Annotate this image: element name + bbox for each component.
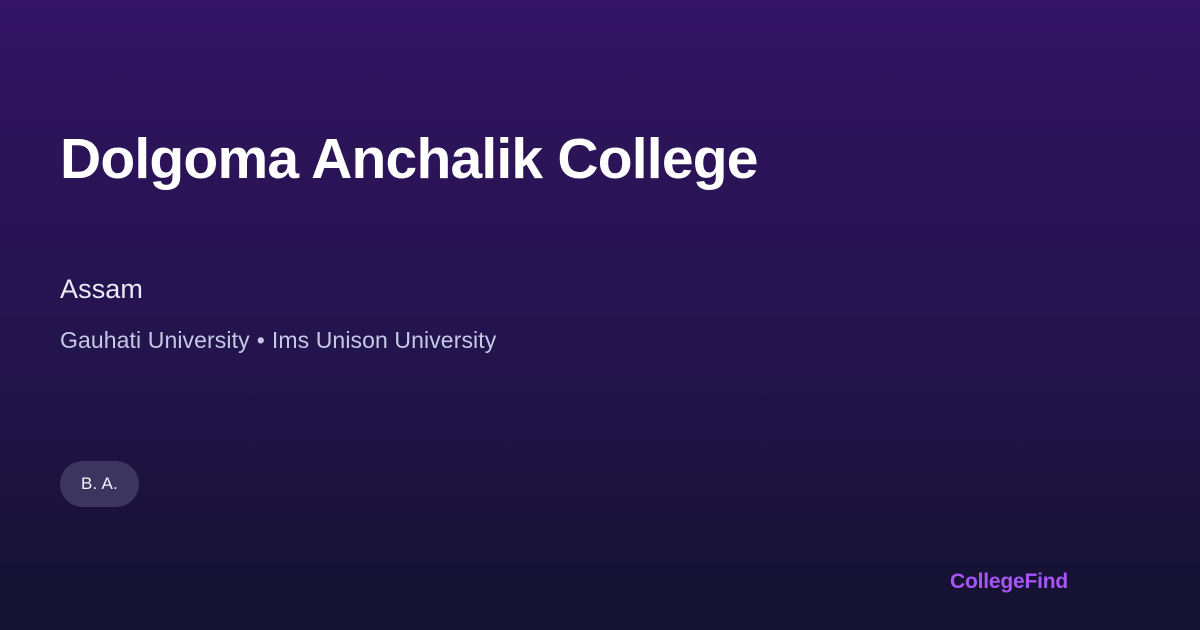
page-title: Dolgoma Anchalik College bbox=[60, 127, 758, 193]
og-share-card: Dolgoma Anchalik College Assam Gauhati U… bbox=[0, 0, 1200, 630]
bullet-separator-icon: • bbox=[250, 326, 272, 356]
affiliation-line: Gauhati University•Ims Unison University bbox=[60, 326, 496, 356]
state-label: Assam bbox=[60, 272, 143, 307]
affiliation-secondary: Ims Unison University bbox=[272, 327, 497, 353]
course-badge-list: B. A. bbox=[60, 461, 139, 507]
affiliation-primary: Gauhati University bbox=[60, 327, 250, 353]
brand-logo: CollegeFind bbox=[950, 570, 1068, 594]
card-content: Dolgoma Anchalik College Assam Gauhati U… bbox=[60, 0, 1140, 630]
course-badge: B. A. bbox=[60, 461, 139, 507]
